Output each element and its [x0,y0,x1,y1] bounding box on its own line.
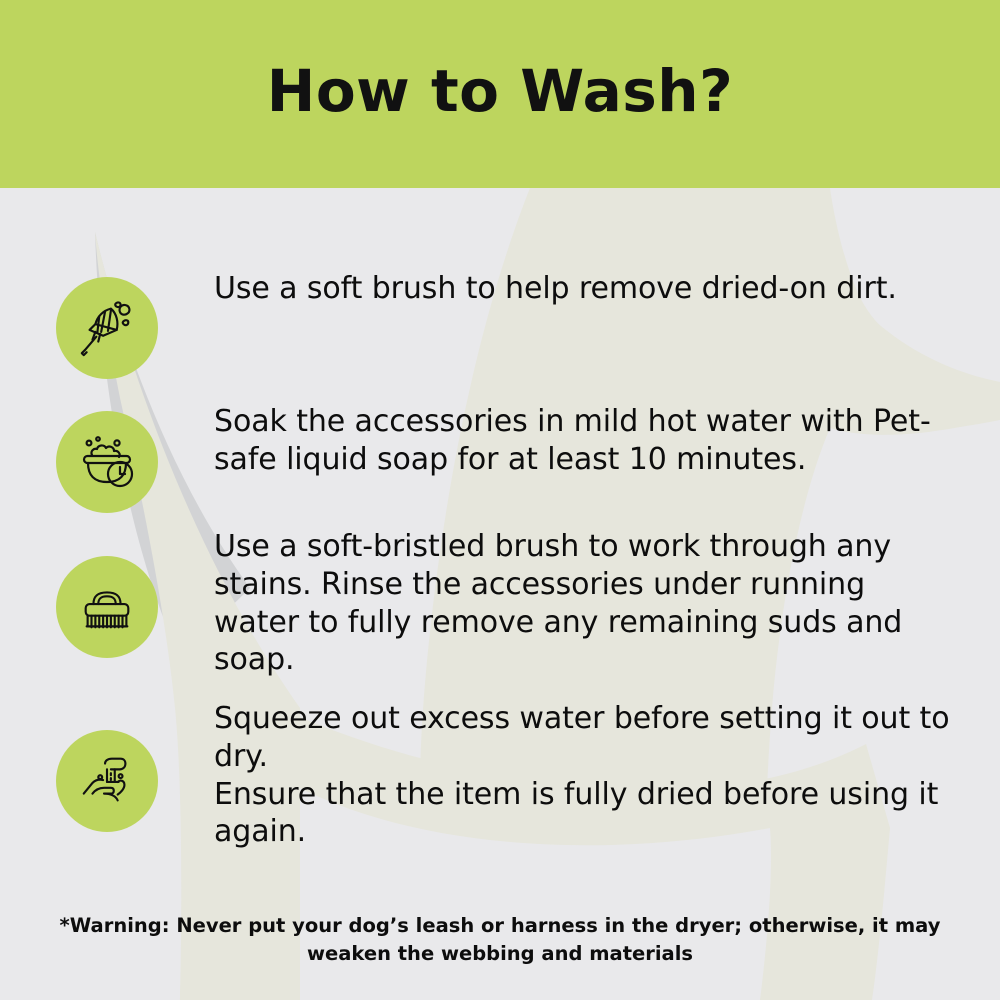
hand-squeeze-water-icon [56,730,158,832]
infographic-page: How to Wash? [0,0,1000,1000]
wash-basin-timer-icon [56,411,158,513]
warning-note: *Warning: Never put your dog’s leash or … [0,912,1000,969]
feather-duster-icon [56,277,158,379]
header-band: How to Wash? [0,0,1000,188]
page-title: How to Wash? [267,62,733,126]
step-item: Use a soft-bristled brush to work throug… [56,528,956,679]
step-text: Use a soft brush to help remove dried-on… [214,270,956,308]
step-text: Use a soft-bristled brush to work throug… [214,528,956,679]
step-item: Use a soft brush to help remove dried-on… [56,270,956,379]
step-text: Soak the accessories in mild hot water w… [214,403,956,479]
scrub-brush-icon [56,556,158,658]
step-item: Soak the accessories in mild hot water w… [56,403,956,513]
step-item: Squeeze out excess water before setting … [56,700,956,851]
step-text: Squeeze out excess water before setting … [214,700,956,851]
